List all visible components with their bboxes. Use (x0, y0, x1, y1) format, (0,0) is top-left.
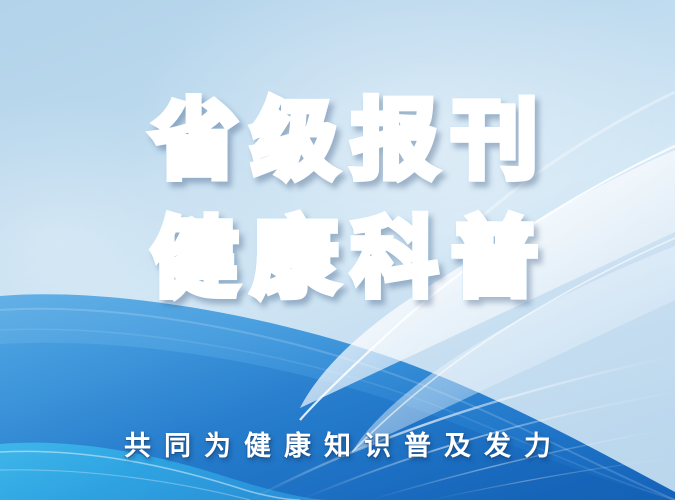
banner-subtitle: 共同为健康知识普及发力 (0, 424, 675, 463)
title-line-2-text: 健康科普 (138, 216, 552, 302)
title-line-1: 省级报刊 (0, 98, 675, 184)
banner-title: 省级报刊 健康科普 (0, 98, 675, 302)
health-science-banner: 省级报刊 健康科普 共同为健康知识普及发力 (0, 0, 675, 500)
title-line-1-text: 省级报刊 (138, 98, 552, 184)
title-line-2: 健康科普 (0, 216, 675, 302)
